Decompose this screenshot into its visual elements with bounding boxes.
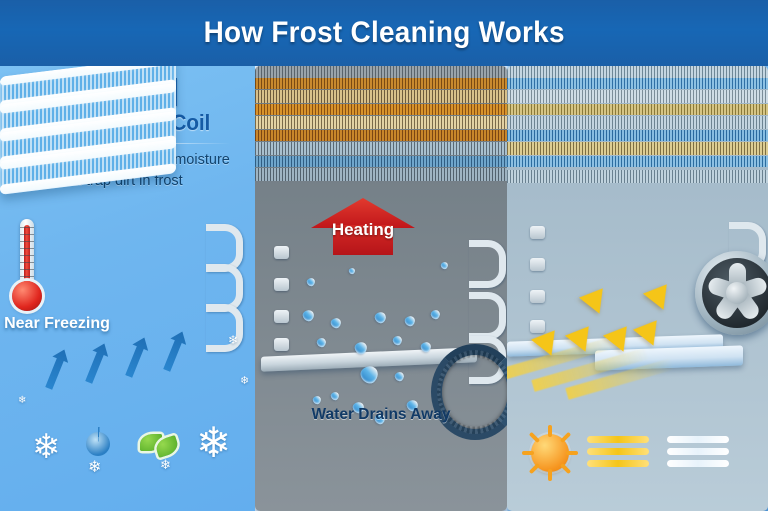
snowflake-icon: ❄ [228,334,238,346]
coil-side-cap [274,310,289,323]
coil-ubend [469,292,506,340]
coil-side-cap [530,290,545,303]
snowflake-icon: ❄ [240,376,249,387]
water-drains-caption: Water Drains Away [255,406,507,424]
page-title: How Frost Cleaning Works [203,16,564,50]
coil-side-cap [274,246,289,259]
sun-icon [531,434,569,472]
clean-coil [507,66,703,186]
airflow-arrow [81,340,112,385]
header-bar: How Frost Cleaning Works [0,0,768,66]
heating-arrow-icon: Heating [311,198,415,254]
dust-particle-icon [86,432,110,456]
panel-row: Step 1: Freezing the Coil Coil is chille… [0,66,768,511]
airflow-arrow [121,334,152,379]
panel-step-3: Step 3: Drying the Coil Fan runs to dry … [507,66,768,511]
panel-step-1: Step 1: Freezing the Coil Coil is chille… [0,66,255,511]
snowflake-icon: ❄ [32,430,61,464]
thermometer-icon [10,219,44,325]
snowflake-icon: ❄ [18,396,26,406]
frosted-coil [0,66,176,195]
airflow-arrow [159,328,190,373]
dirty-coil [255,66,445,184]
snowflake-icon: ❄ [88,460,101,476]
near-freezing-label: Near Freezing [2,316,112,333]
snowflake-icon: ❄ [160,458,171,471]
coil-side-cap [530,226,545,239]
coil-side-cap [274,278,289,291]
coil-ubend [469,240,506,288]
infographic-canvas: How Frost Cleaning Works Step 1: Freezin… [0,0,768,511]
coil-side-cap [530,258,545,271]
frosted-coil-body [0,66,176,195]
panel-step-2: Step 2: Melting & Flushing Frost melts &… [255,66,507,511]
snowflake-icon: ❄ [196,422,231,464]
heating-label: Heating [311,220,415,240]
coil-side-cap [274,338,289,351]
airflow-arrow [41,346,72,391]
